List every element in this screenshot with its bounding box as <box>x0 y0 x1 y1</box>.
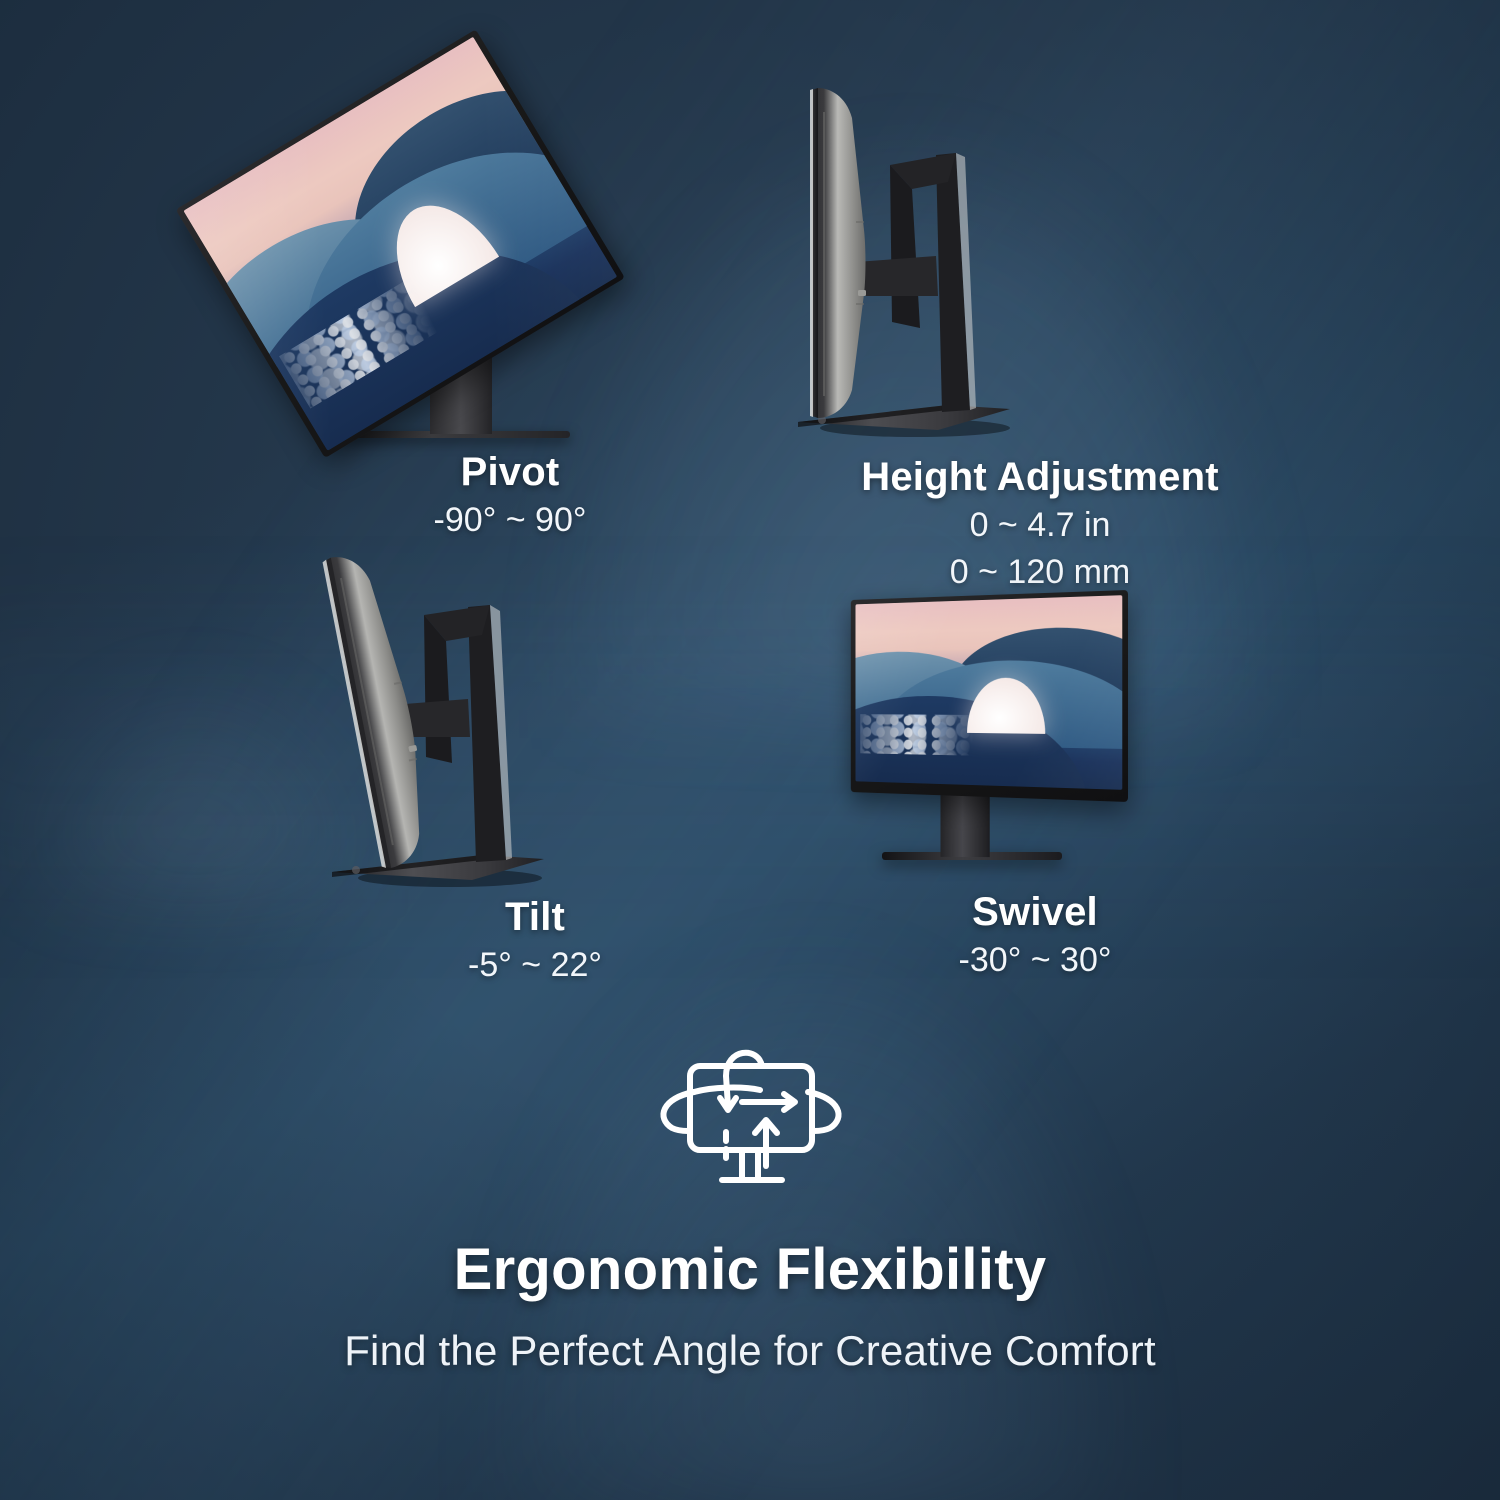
feature-value: -90° ~ 90° <box>240 499 780 543</box>
feature-tilt: Tilt -5° ~ 22° <box>300 545 770 987</box>
feature-title: Swivel <box>790 890 1280 935</box>
wallpaper <box>856 595 1123 790</box>
monitor-screen <box>183 37 617 451</box>
feature-caption: Height Adjustment 0 ~ 4.7 in 0 ~ 120 mm <box>760 455 1320 595</box>
wallpaper <box>183 37 617 451</box>
monitor-side-profile-tilted <box>300 545 770 895</box>
feature-title: Tilt <box>300 895 770 940</box>
monitor-pivot-icon <box>240 70 780 450</box>
feature-value-mm: 0 ~ 120 mm <box>760 551 1320 595</box>
monitor-side-profile-raised <box>760 60 1320 455</box>
footer: Ergonomic Flexibility Find the Perfect A… <box>0 1040 1500 1375</box>
feature-caption: Swivel -30° ~ 30° <box>790 890 1280 982</box>
feature-height-adjustment: Height Adjustment 0 ~ 4.7 in 0 ~ 120 mm <box>760 60 1320 595</box>
monitor-screen <box>856 595 1123 790</box>
feature-value-inches: 0 ~ 4.7 in <box>760 504 1320 548</box>
stand-column <box>940 795 989 857</box>
feature-pivot: Pivot -90° ~ 90° <box>240 70 780 542</box>
marketing-banner: Pivot -90° ~ 90° <box>0 0 1500 1500</box>
wallpaper-speckles <box>860 714 982 756</box>
feature-caption: Tilt -5° ~ 22° <box>300 895 770 987</box>
subheadline: Find the Perfect Angle for Creative Comf… <box>0 1327 1500 1375</box>
monitor-rotated <box>176 29 625 458</box>
feature-value: -5° ~ 22° <box>300 944 770 988</box>
monitor-bezel <box>851 590 1128 802</box>
monitor-bezel <box>176 29 625 458</box>
monitor-tilt-icon <box>300 545 770 895</box>
feature-value: -30° ~ 30° <box>790 939 1280 983</box>
feature-title: Height Adjustment <box>760 455 1320 500</box>
headline: Ergonomic Flexibility <box>0 1236 1500 1303</box>
ergonomic-monitor-rotation-icon <box>642 1040 858 1196</box>
monitor-height-icon <box>760 60 1320 455</box>
feature-title: Pivot <box>240 450 780 495</box>
monitor-swivel-icon <box>790 590 1280 890</box>
feature-swivel: Swivel -30° ~ 30° <box>790 590 1280 982</box>
monitor-front-swiveled <box>851 590 1128 802</box>
feature-caption: Pivot -90° ~ 90° <box>240 450 780 542</box>
